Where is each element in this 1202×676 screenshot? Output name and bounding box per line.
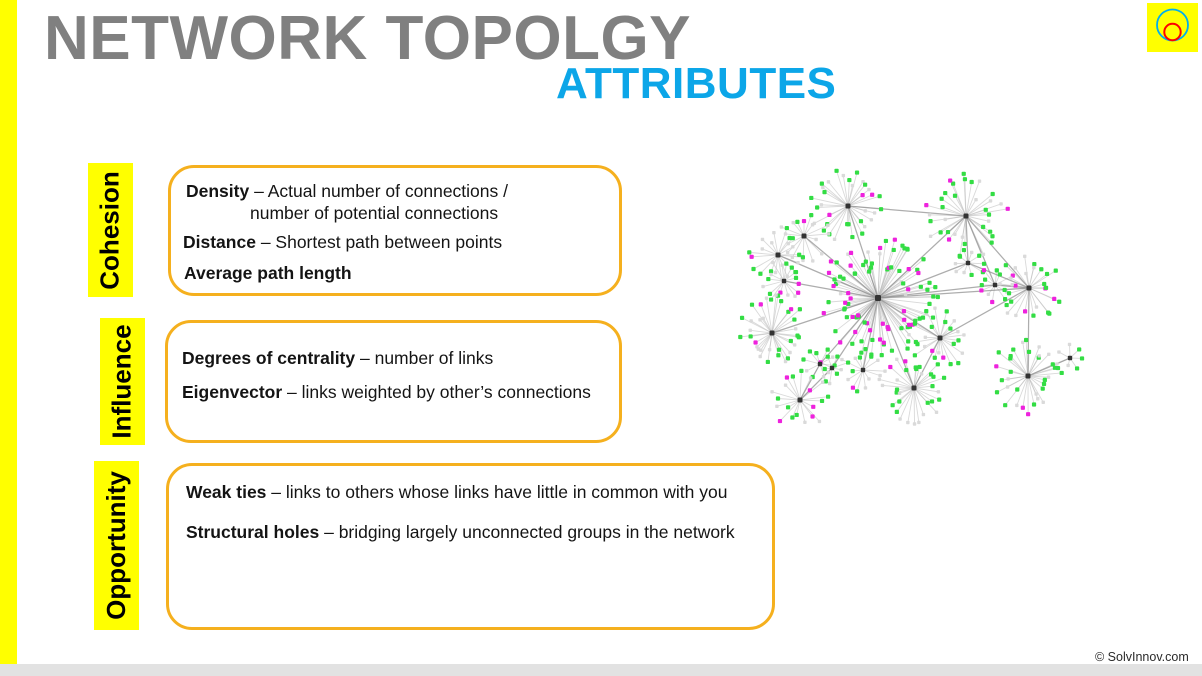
logo-circles-icon (1147, 3, 1198, 52)
bullet-weak-ties-text: – links to others whose links have littl… (266, 482, 727, 502)
bullet-distance-text: – Shortest path between points (256, 232, 502, 252)
bullet-density-text: – Actual number of connections / (249, 181, 508, 201)
bullet-structural-holes: Structural holes – bridging largely unco… (186, 522, 735, 543)
bullet-average-path-length: Average path length (184, 263, 352, 284)
bullet-distance: Distance – Shortest path between points (183, 232, 502, 253)
bullet-structural-holes-text: – bridging largely unconnected groups in… (319, 522, 734, 542)
category-tab-cohesion-label: Cohesion (95, 171, 126, 289)
left-yellow-rail (0, 0, 17, 664)
page-subtitle: ATTRIBUTES (556, 62, 836, 106)
category-tab-opportunity: Opportunity (94, 461, 139, 630)
category-tab-influence-label: Influence (107, 324, 138, 438)
solvinnov-logo (1147, 3, 1198, 52)
logo-inner-circle-icon (1164, 24, 1180, 40)
bullet-distance-term: Distance (183, 232, 256, 252)
bottom-gray-strip (0, 664, 1202, 676)
network-topology-graph (718, 158, 1102, 460)
bullet-eigenvector-text: – links weighted by other’s connections (282, 382, 591, 402)
bullet-weak-ties: Weak ties – links to others whose links … (186, 482, 727, 503)
bullet-degrees-of-centrality-text: – number of links (355, 348, 493, 368)
bullet-degrees-of-centrality: Degrees of centrality – number of links (182, 348, 493, 369)
bullet-density-cont-text: number of potential connections (250, 203, 498, 223)
bullet-density: Density – Actual number of connections / (186, 181, 508, 202)
bullet-density-cont: number of potential connections (250, 203, 498, 224)
footer-copyright: © SolvInnov.com (1095, 650, 1189, 664)
bullet-eigenvector-term: Eigenvector (182, 382, 282, 402)
slide-canvas: NETWORK TOPOLGY ATTRIBUTES Cohesion Infl… (0, 0, 1202, 676)
bullet-structural-holes-term: Structural holes (186, 522, 319, 542)
bullet-weak-ties-term: Weak ties (186, 482, 266, 502)
category-tab-opportunity-label: Opportunity (101, 471, 132, 620)
network-graph-canvas (718, 158, 1102, 460)
bullet-density-term: Density (186, 181, 249, 201)
category-tab-influence: Influence (100, 318, 145, 445)
bullet-average-path-length-term: Average path length (184, 263, 352, 283)
logo-outer-circle-icon (1157, 10, 1188, 41)
bullet-degrees-of-centrality-term: Degrees of centrality (182, 348, 355, 368)
category-tab-cohesion: Cohesion (88, 163, 133, 297)
bullet-eigenvector: Eigenvector – links weighted by other’s … (182, 382, 591, 403)
